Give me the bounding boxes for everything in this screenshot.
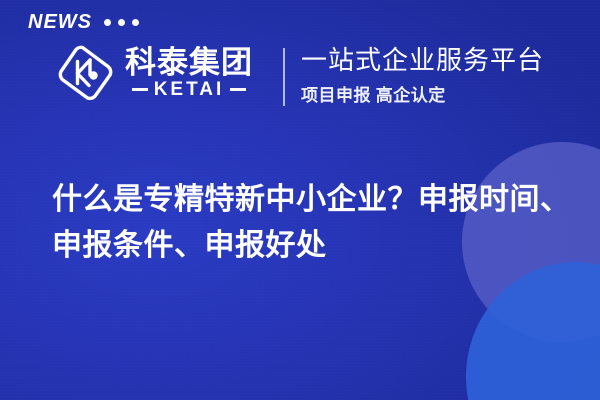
vertical-divider (283, 48, 285, 106)
eyebrow-dot (104, 19, 111, 26)
news-banner: NEWS 科泰集团 KETAI (0, 0, 600, 400)
brand-name-latin: KETAI (154, 80, 225, 99)
eyebrow-dot (132, 19, 139, 26)
wordmark-dash-left (132, 88, 148, 91)
brand-latin-row: KETAI (125, 80, 253, 99)
brand-lockup: 科泰集团 KETAI (55, 42, 253, 104)
brand-tagline-sub: 项目申报 高企认定 (301, 81, 544, 106)
brand-tagline: 一站式企业服务平台 (301, 45, 544, 77)
eyebrow-dots (104, 19, 139, 26)
ketai-diamond-k-logo-icon (55, 42, 117, 104)
eyebrow-label: NEWS (28, 12, 92, 32)
brand-wordmark: 科泰集团 KETAI (125, 47, 253, 100)
eyebrow-dot (118, 19, 125, 26)
eyebrow: NEWS (28, 12, 139, 32)
wordmark-dash-right (230, 88, 246, 91)
brand-name-cn: 科泰集团 (125, 47, 253, 80)
headline: 什么是专精特新中小企业？申报时间、申报条件、申报好处 (52, 177, 572, 268)
logo-dot (89, 71, 97, 79)
tagline-block: 一站式企业服务平台 项目申报 高企认定 (301, 45, 544, 106)
